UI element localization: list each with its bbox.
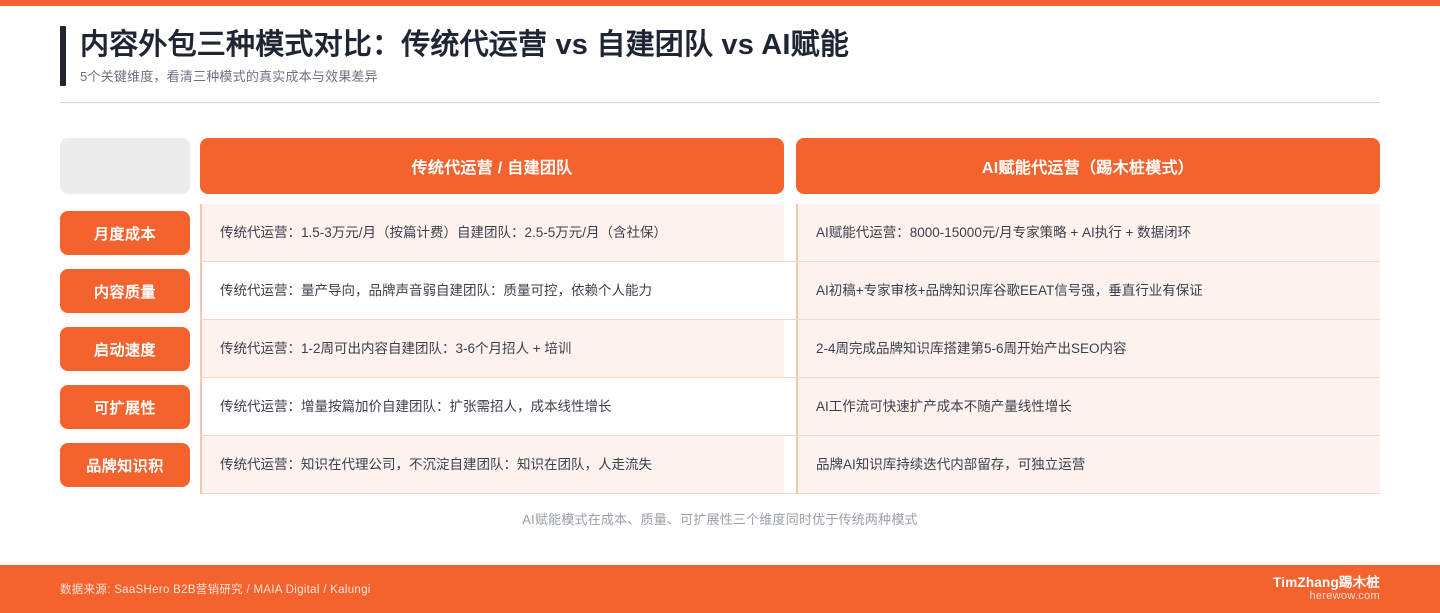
table-row: 品牌知识积 传统代运营：知识在代理公司，不沉淀自建团队：知识在团队，人走流失 品… [60, 436, 1380, 494]
title-block: 内容外包三种模式对比：传统代运营 vs 自建团队 vs AI赋能 5个关键维度，… [80, 26, 849, 86]
cell-ai: 2-4周完成品牌知识库搭建第5-6周开始产出SEO内容 [796, 320, 1380, 378]
summary-note: AI赋能模式在成本、质量、可扩展性三个维度同时优于传统两种模式 [0, 509, 1440, 528]
cell-traditional: 传统代运营：1-2周可出内容自建团队：3-6个月招人 + 培训 [200, 320, 784, 378]
infographic-page: 内容外包三种模式对比：传统代运营 vs 自建团队 vs AI赋能 5个关键维度，… [0, 0, 1440, 613]
cell-traditional: 传统代运营：1.5-3万元/月（按篇计费）自建团队：2.5-5万元/月（含社保） [200, 204, 784, 262]
cell-traditional: 传统代运营：增量按篇加价自建团队：扩张需招人，成本线性增长 [200, 378, 784, 436]
page-footer: 数据来源: SaaSHero B2B营销研究 / MAIA Digital / … [0, 565, 1440, 613]
footer-source: 数据来源: SaaSHero B2B营销研究 / MAIA Digital / … [60, 581, 371, 597]
table-row: 可扩展性 传统代运营：增量按篇加价自建团队：扩张需招人，成本线性增长 AI工作流… [60, 378, 1380, 436]
dimension-badge: 内容质量 [60, 269, 190, 313]
table-row: 内容质量 传统代运营：量产导向，品牌声音弱自建团队：质量可控，依赖个人能力 AI… [60, 262, 1380, 320]
cell-ai: 品牌AI知识库持续迭代内部留存，可独立运营 [796, 436, 1380, 494]
dimension-cell: 内容质量 [60, 262, 190, 320]
dimension-badge: 启动速度 [60, 327, 190, 371]
cell-ai: AI赋能代运营：8000-15000元/月专家策略 + AI执行 + 数据闭环 [796, 204, 1380, 262]
cell-ai: AI初稿+专家审核+品牌知识库谷歌EEAT信号强，垂直行业有保证 [796, 262, 1380, 320]
cell-ai: AI工作流可快速扩产成本不随产量线性增长 [796, 378, 1380, 436]
title-accent-bar [60, 26, 66, 86]
table-header-row: 传统代运营 / 自建团队 AI赋能代运营（踢木桩模式） [60, 138, 1380, 194]
dimension-cell: 可扩展性 [60, 378, 190, 436]
brand-name: TimZhang踢木桩 [1273, 575, 1380, 591]
table-header-dimension-cell [60, 138, 190, 194]
page-title: 内容外包三种模式对比：传统代运营 vs 自建团队 vs AI赋能 [80, 27, 849, 63]
row-divider [200, 493, 1380, 494]
cell-traditional: 传统代运营：知识在代理公司，不沉淀自建团队：知识在团队，人走流失 [200, 436, 784, 494]
brand-url: herewow.com [1273, 590, 1380, 603]
top-accent-bar [0, 0, 1440, 6]
dimension-badge: 品牌知识积 [60, 443, 190, 487]
table-header-ai: AI赋能代运营（踢木桩模式） [796, 138, 1380, 194]
dimension-cell: 启动速度 [60, 320, 190, 378]
table-row: 月度成本 传统代运营：1.5-3万元/月（按篇计费）自建团队：2.5-5万元/月… [60, 204, 1380, 262]
dimension-badge: 可扩展性 [60, 385, 190, 429]
title-row: 内容外包三种模式对比：传统代运营 vs 自建团队 vs AI赋能 5个关键维度，… [60, 26, 1380, 86]
dimension-cell: 品牌知识积 [60, 436, 190, 494]
footer-brand: TimZhang踢木桩 herewow.com [1273, 575, 1380, 603]
cell-traditional: 传统代运营：量产导向，品牌声音弱自建团队：质量可控，依赖个人能力 [200, 262, 784, 320]
dimension-cell: 月度成本 [60, 204, 190, 262]
header-divider [60, 102, 1380, 103]
page-subtitle: 5个关键维度，看清三种模式的真实成本与效果差异 [80, 69, 849, 86]
table-header-traditional: 传统代运营 / 自建团队 [200, 138, 784, 194]
table-row: 启动速度 传统代运营：1-2周可出内容自建团队：3-6个月招人 + 培训 2-4… [60, 320, 1380, 378]
dimension-badge: 月度成本 [60, 211, 190, 255]
comparison-table: 传统代运营 / 自建团队 AI赋能代运营（踢木桩模式） 月度成本 传统代运营：1… [60, 138, 1380, 494]
page-header: 内容外包三种模式对比：传统代运营 vs 自建团队 vs AI赋能 5个关键维度，… [60, 26, 1380, 86]
